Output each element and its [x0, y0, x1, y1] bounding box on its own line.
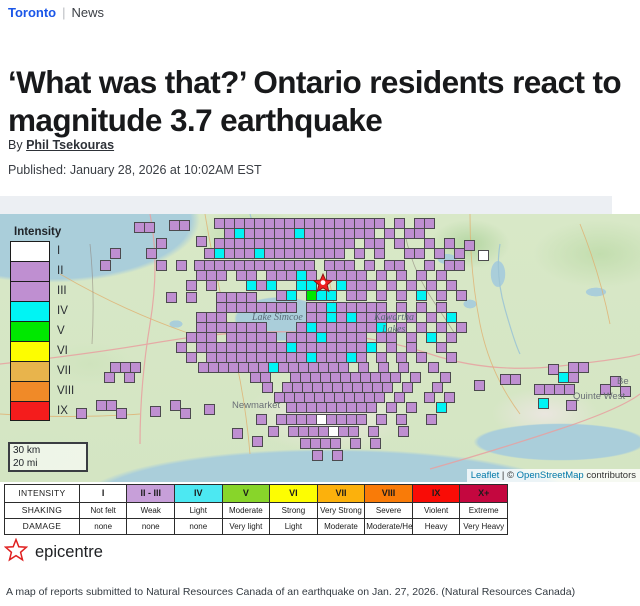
legend-row-iii: III: [10, 281, 88, 301]
intensity-cell: [446, 332, 457, 343]
legend-rows: IIIIIIIVVVIVIIVIIIIX: [10, 241, 88, 421]
legend-title: Intensity: [10, 226, 88, 238]
intensity-cell: [436, 290, 447, 301]
intensity-header-0: I: [79, 485, 127, 503]
intensity-cell: [186, 352, 197, 363]
intensity-cell: [354, 248, 365, 259]
legend-label-vi: VI: [57, 345, 68, 357]
intensity-header-2: IV: [175, 485, 223, 503]
copyright-symbol: ©: [507, 470, 514, 481]
legend-swatch-viii: [10, 381, 50, 401]
shakemap[interactable]: Lake SimcoeKawarthaLakesNewmarketQuinte …: [0, 214, 640, 482]
damage-value-2: none: [175, 519, 223, 535]
shaking-value-0: Not felt: [79, 503, 127, 519]
leaflet-link[interactable]: Leaflet: [471, 470, 500, 481]
scale-mi: 20 mi: [8, 457, 88, 472]
intensity-scale-table: INTENSITY III - IIIIVVVIVIIVIIIIXX+ SHAK…: [4, 484, 508, 535]
intensity-cell: [414, 248, 425, 259]
intensity-cell: [180, 408, 191, 419]
intensity-header-8: X+: [460, 485, 508, 503]
table-row-intensity: INTENSITY III - IIIIVVVIVIIVIIIIXX+: [5, 485, 508, 503]
intensity-header-3: V: [222, 485, 270, 503]
legend-label-iii: III: [57, 285, 67, 297]
shaking-value-1: Weak: [127, 503, 175, 519]
legend-swatch-ix: [10, 401, 50, 421]
breadcrumb: Toronto | News: [8, 5, 104, 21]
breadcrumb-separator: |: [62, 5, 65, 21]
byline: By Phil Tsekouras: [8, 137, 114, 153]
attrib-separator: |: [499, 470, 507, 481]
intensity-legend: Intensity IIIIIIIVVVIVIIVIIIIX: [10, 226, 88, 421]
intensity-cell: [204, 404, 215, 415]
intensity-cell: [104, 372, 115, 383]
legend-swatch-v: [10, 321, 50, 341]
intensity-cell: [474, 380, 485, 391]
intensity-cell: [110, 248, 121, 259]
intensity-cell: [434, 248, 445, 259]
article-page: Toronto | News ‘What was that?’ Ontario …: [0, 0, 640, 606]
intensity-cell: [116, 408, 127, 419]
intensity-cell: [156, 260, 167, 271]
intensity-cell: [124, 372, 135, 383]
intensity-cell: [446, 352, 457, 363]
intensity-cell: [350, 438, 361, 449]
attrib-suffix: contributors: [586, 470, 636, 481]
intensity-cell: [216, 270, 227, 281]
legend-row-v: V: [10, 321, 88, 341]
intensity-cell: [478, 250, 489, 261]
scale-km: 30 km: [8, 442, 88, 457]
intensity-cell: [406, 402, 417, 413]
intensity-header-5: VII: [317, 485, 365, 503]
intensity-cell: [156, 238, 167, 249]
intensity-cell: [366, 402, 377, 413]
damage-value-8: Very Heavy: [460, 519, 508, 535]
legend-swatch-iii: [10, 281, 50, 301]
intensity-cell: [416, 290, 427, 301]
intensity-cell: [356, 414, 367, 425]
map-attribution: Leaflet | © OpenStreetMap contributors: [467, 469, 640, 482]
shaking-value-2: Light: [175, 503, 223, 519]
legend-row-ii: II: [10, 261, 88, 281]
shaking-value-8: Extreme: [460, 503, 508, 519]
intensity-cell: [370, 438, 381, 449]
intensity-cell: [100, 260, 111, 271]
intensity-cell: [330, 438, 341, 449]
epicentre-star-icon: [4, 538, 28, 567]
intensity-cell: [268, 426, 279, 437]
intensity-cell: [454, 248, 465, 259]
intensity-cell: [564, 384, 575, 395]
legend-label-ix: IX: [57, 405, 68, 417]
intensity-cell: [348, 426, 359, 437]
intensity-cell: [252, 436, 263, 447]
row-label-intensity: INTENSITY: [5, 485, 80, 503]
intensity-cell: [396, 290, 407, 301]
intensity-cell: [538, 398, 549, 409]
intensity-cell: [568, 372, 579, 383]
intensity-cell: [312, 450, 323, 461]
damage-value-7: Heavy: [412, 519, 460, 535]
legend-row-viii: VIII: [10, 381, 88, 401]
intensity-cell: [196, 236, 207, 247]
published-timestamp: Published: January 28, 2026 at 10:02AM E…: [8, 162, 262, 178]
intensity-cell: [578, 362, 589, 373]
intensity-cell: [396, 414, 407, 425]
legend-swatch-iv: [10, 301, 50, 321]
legend-label-viii: VIII: [57, 385, 74, 397]
intensity-cell: [368, 426, 379, 437]
legend-swatch-vii: [10, 361, 50, 381]
intensity-cell: [356, 290, 367, 301]
intensity-cell: [186, 280, 197, 291]
legend-label-ii: II: [57, 265, 63, 277]
epicentre-key-label: epicentre: [35, 543, 103, 562]
row-label-shaking: SHAKING: [5, 503, 80, 519]
intensity-cell: [150, 406, 161, 417]
epicentre-marker-icon[interactable]: [313, 273, 333, 293]
intensity-cell: [436, 402, 447, 413]
damage-value-3: Very light: [222, 519, 270, 535]
shaking-value-5: Very Strong: [317, 503, 365, 519]
intensity-cell: [176, 260, 187, 271]
legend-label-i: I: [57, 245, 60, 257]
intensity-header-7: IX: [412, 485, 460, 503]
figure-caption: A map of reports submitted to Natural Re…: [6, 585, 636, 599]
breadcrumb-section[interactable]: News: [72, 5, 105, 21]
openstreetmap-link[interactable]: OpenStreetMap: [517, 470, 584, 481]
byline-prefix: By: [8, 138, 23, 152]
intensity-cell: [286, 290, 297, 301]
page-title: ‘What was that?’ Ontario residents react…: [8, 63, 632, 139]
intensity-cell: [424, 392, 435, 403]
intensity-cell: [144, 222, 155, 233]
breadcrumb-region-link[interactable]: Toronto: [8, 5, 56, 21]
intensity-cell: [416, 352, 427, 363]
legend-label-vii: VII: [57, 365, 71, 377]
damage-value-1: none: [127, 519, 175, 535]
legend-swatch-i: [10, 241, 50, 261]
shaking-value-3: Moderate: [222, 503, 270, 519]
author-link[interactable]: Phil Tsekouras: [26, 138, 114, 152]
intensity-cell: [146, 248, 157, 259]
table-row-damage: DAMAGE nonenonenoneVery lightLightModera…: [5, 519, 508, 535]
epicentre-key: epicentre: [4, 538, 103, 567]
intensity-cell: [256, 414, 267, 425]
intensity-cell: [332, 450, 343, 461]
intensity-header-4: VI: [270, 485, 318, 503]
damage-value-5: Moderate: [317, 519, 365, 535]
intensity-cell: [179, 220, 190, 231]
shaking-value-7: Violent: [412, 503, 460, 519]
legend-row-i: I: [10, 241, 88, 261]
legend-row-iv: IV: [10, 301, 88, 321]
intensity-cell: [276, 290, 287, 301]
intensity-cell: [166, 292, 177, 303]
intensity-cell: [334, 248, 345, 259]
legend-label-v: V: [57, 325, 65, 337]
intensity-cell: [186, 292, 197, 303]
legend-row-vi: VI: [10, 341, 88, 361]
intensity-cell: [262, 382, 273, 393]
shaking-value-4: Strong: [270, 503, 318, 519]
intensity-cell: [398, 426, 409, 437]
intensity-cell: [376, 290, 387, 301]
intensity-cell: [424, 218, 435, 229]
intensity-cell: [510, 374, 521, 385]
row-label-damage: DAMAGE: [5, 519, 80, 535]
table-row-shaking: SHAKING Not feltWeakLightModerateStrongV…: [5, 503, 508, 519]
intensity-cell: [456, 290, 467, 301]
intensity-cell: [456, 322, 467, 333]
legend-swatch-vi: [10, 341, 50, 361]
intensity-cell: [620, 386, 631, 397]
intensity-cell: [464, 240, 475, 251]
intensity-cell: [428, 362, 439, 373]
intensity-cell: [376, 414, 387, 425]
legend-row-ix: IX: [10, 401, 88, 421]
intensity-cell: [232, 428, 243, 439]
shaking-value-6: Severe: [365, 503, 413, 519]
intensity-cell: [426, 414, 437, 425]
damage-value-4: Light: [270, 519, 318, 535]
damage-value-6: Moderate/Heavy: [365, 519, 413, 535]
legend-label-iv: IV: [57, 305, 68, 317]
damage-value-0: none: [79, 519, 127, 535]
intensity-cell: [206, 280, 217, 291]
map-scale-bar: 30 km 20 mi: [8, 442, 88, 472]
intensity-cell: [386, 402, 397, 413]
intensity-cell: [454, 260, 465, 271]
intensity-cell: [286, 302, 297, 313]
intensity-header-1: II - III: [127, 485, 175, 503]
legend-row-vii: VII: [10, 361, 88, 381]
intensity-cell: [374, 248, 385, 259]
intensity-header-6: VIII: [365, 485, 413, 503]
intensity-cell: [566, 400, 577, 411]
legend-swatch-ii: [10, 261, 50, 281]
